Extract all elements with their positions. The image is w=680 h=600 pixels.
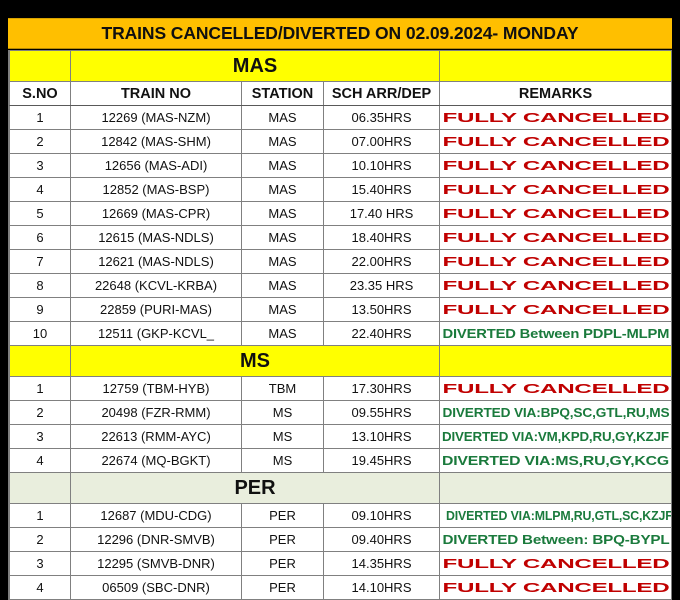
remarks-text: FULLY CANCELLED [442,158,669,173]
cell-remarks: FULLY CANCELLED [440,377,672,401]
cell-sch-arr-dep: 17.40 HRS [324,202,440,226]
cell-serial-number: 3 [10,154,71,178]
cell-remarks: FULLY CANCELLED [440,130,672,154]
cell-sch-arr-dep: 14.10HRS [324,576,440,600]
cell-remarks: FULLY CANCELLED [440,298,672,322]
cell-station: TBM [242,377,324,401]
cell-station: MS [242,401,324,425]
cell-remarks: FULLY CANCELLED [440,202,672,226]
cell-station: MAS [242,298,324,322]
cell-train-no: 20498 (FZR-RMM) [71,401,242,425]
cell-station: MS [242,449,324,473]
page-title: TRAINS CANCELLED/DIVERTED ON 02.09.2024-… [102,23,579,44]
cell-remarks: FULLY CANCELLED [440,226,672,250]
cell-train-no: 22674 (MQ-BGKT) [71,449,242,473]
section-header-row: PER [10,473,672,504]
table-row: 412852 (MAS-BSP)MAS15.40HRSFULLY CANCELL… [10,178,672,202]
cell-station: MAS [242,178,324,202]
cell-sch-arr-dep: 09.55HRS [324,401,440,425]
cell-train-no: 12269 (MAS-NZM) [71,106,242,130]
cell-serial-number: 4 [10,178,71,202]
cell-serial-number: 6 [10,226,71,250]
section-band-spacer [440,346,672,377]
cell-serial-number: 4 [10,576,71,600]
table-row: 822648 (KCVL-KRBA)MAS23.35 HRSFULLY CANC… [10,274,672,298]
column-header-row: S.NOTRAIN NOSTATIONSCH ARR/DEPREMARKS [10,82,672,106]
column-header-station: STATION [242,82,324,106]
remarks-text: FULLY CANCELLED [442,110,669,125]
cell-serial-number: 2 [10,401,71,425]
remarks-text: DIVERTED VIA:BPQ,SC,GTL,RU,MS [442,405,669,420]
cell-serial-number: 9 [10,298,71,322]
cell-train-no: 12295 (SMVB-DNR) [71,552,242,576]
cell-station: PER [242,504,324,528]
cell-station: PER [242,528,324,552]
cell-serial-number: 7 [10,250,71,274]
table-row: 112687 (MDU-CDG)PER09.10HRSDIVERTED VIA:… [10,504,672,528]
remarks-text: DIVERTED Between: BPQ-BYPL [442,532,669,547]
cell-remarks: FULLY CANCELLED [440,106,672,130]
section-band-spacer [440,51,672,82]
cell-sch-arr-dep: 15.40HRS [324,178,440,202]
remarks-text: FULLY CANCELLED [442,381,669,396]
cell-serial-number: 2 [10,528,71,552]
table-row: 312656 (MAS-ADI)MAS10.10HRSFULLY CANCELL… [10,154,672,178]
cell-remarks: FULLY CANCELLED [440,576,672,600]
remarks-text: FULLY CANCELLED [442,182,669,197]
table-row: 922859 (PURI-MAS)MAS13.50HRSFULLY CANCEL… [10,298,672,322]
table-row: 112759 (TBM-HYB)TBM17.30HRSFULLY CANCELL… [10,377,672,401]
remarks-text: FULLY CANCELLED [442,206,669,221]
cell-train-no: 06509 (SBC-DNR) [71,576,242,600]
cell-remarks: FULLY CANCELLED [440,274,672,298]
cell-train-no: 22859 (PURI-MAS) [71,298,242,322]
cell-sch-arr-dep: 09.40HRS [324,528,440,552]
cell-sch-arr-dep: 17.30HRS [324,377,440,401]
remarks-text: FULLY CANCELLED [442,580,669,595]
cell-remarks: DIVERTED VIA:VM,KPD,RU,GY,KZJF [440,425,672,449]
cell-sch-arr-dep: 23.35 HRS [324,274,440,298]
remarks-text: FULLY CANCELLED [442,230,669,245]
table-row: 212296 (DNR-SMVB)PER09.40HRSDIVERTED Bet… [10,528,672,552]
section-header-row: MS [10,346,672,377]
cell-train-no: 12296 (DNR-SMVB) [71,528,242,552]
table-row: 512669 (MAS-CPR)MAS17.40 HRSFULLY CANCEL… [10,202,672,226]
cell-train-no: 12621 (MAS-NDLS) [71,250,242,274]
table-row: 422674 (MQ-BGKT)MS19.45HRSDIVERTED VIA:M… [10,449,672,473]
cell-sch-arr-dep: 13.10HRS [324,425,440,449]
cell-train-no: 12842 (MAS-SHM) [71,130,242,154]
cell-sch-arr-dep: 14.35HRS [324,552,440,576]
cell-serial-number: 1 [10,377,71,401]
cell-sch-arr-dep: 18.40HRS [324,226,440,250]
cell-sch-arr-dep: 06.35HRS [324,106,440,130]
table-row: 220498 (FZR-RMM)MS09.55HRSDIVERTED VIA:B… [10,401,672,425]
cell-remarks: FULLY CANCELLED [440,250,672,274]
cell-train-no: 12759 (TBM-HYB) [71,377,242,401]
column-header-sch-arr-dep: SCH ARR/DEP [324,82,440,106]
cell-train-no: 12656 (MAS-ADI) [71,154,242,178]
cell-train-no: 22648 (KCVL-KRBA) [71,274,242,298]
section-name-ms: MS [71,346,440,377]
cell-station: MAS [242,130,324,154]
cell-station: MAS [242,106,324,130]
notice-title-bar: TRAINS CANCELLED/DIVERTED ON 02.09.2024-… [8,18,672,49]
table-row: 1012511 (GKP-KCVL_MAS22.40HRSDIVERTED Be… [10,322,672,346]
cell-serial-number: 1 [10,504,71,528]
cell-train-no: 12511 (GKP-KCVL_ [71,322,242,346]
table-row: 322613 (RMM-AYC)MS13.10HRSDIVERTED VIA:V… [10,425,672,449]
cell-station: MS [242,425,324,449]
cell-train-no: 12687 (MDU-CDG) [71,504,242,528]
remarks-text: FULLY CANCELLED [442,556,669,571]
cell-train-no: 12852 (MAS-BSP) [71,178,242,202]
screenshot-root: TRAINS CANCELLED/DIVERTED ON 02.09.2024-… [0,0,680,575]
column-header-train-no: TRAIN NO [71,82,242,106]
cell-sch-arr-dep: 10.10HRS [324,154,440,178]
cancellation-table-container: MASS.NOTRAIN NOSTATIONSCH ARR/DEPREMARKS… [8,50,672,600]
cell-station: MAS [242,154,324,178]
table-row: 612615 (MAS-NDLS)MAS18.40HRSFULLY CANCEL… [10,226,672,250]
section-band-spacer [440,473,672,504]
column-header-remarks: REMARKS [440,82,672,106]
cell-remarks: DIVERTED Between: BPQ-BYPL [440,528,672,552]
table-row: 712621 (MAS-NDLS)MAS22.00HRSFULLY CANCEL… [10,250,672,274]
cell-train-no: 12669 (MAS-CPR) [71,202,242,226]
cell-serial-number: 10 [10,322,71,346]
cell-remarks: FULLY CANCELLED [440,178,672,202]
cell-serial-number: 3 [10,425,71,449]
section-name-mas: MAS [71,51,440,82]
cell-station: MAS [242,274,324,298]
section-band-spacer [10,473,71,504]
trains-table: MASS.NOTRAIN NOSTATIONSCH ARR/DEPREMARKS… [9,50,672,600]
cell-remarks: FULLY CANCELLED [440,154,672,178]
section-name-per: PER [71,473,440,504]
cell-remarks: DIVERTED Between PDPL-MLPM [440,322,672,346]
cell-serial-number: 3 [10,552,71,576]
cell-serial-number: 8 [10,274,71,298]
cell-remarks: DIVERTED VIA:MLPM,RU,GTL,SC,KZJF [440,504,672,528]
cell-station: MAS [242,226,324,250]
remarks-text: DIVERTED VIA:MS,RU,GY,KCG [442,453,669,468]
section-band-spacer [10,346,71,377]
cell-remarks: DIVERTED VIA:BPQ,SC,GTL,RU,MS [440,401,672,425]
cell-serial-number: 5 [10,202,71,226]
cell-train-no: 12615 (MAS-NDLS) [71,226,242,250]
cell-serial-number: 1 [10,106,71,130]
table-row: 406509 (SBC-DNR)PER14.10HRSFULLY CANCELL… [10,576,672,600]
cell-train-no: 22613 (RMM-AYC) [71,425,242,449]
cell-station: MAS [242,202,324,226]
cell-serial-number: 2 [10,130,71,154]
remarks-text: FULLY CANCELLED [442,254,669,269]
section-band-spacer [10,51,71,82]
cell-station: PER [242,576,324,600]
cell-station: MAS [242,250,324,274]
table-row: 212842 (MAS-SHM)MAS07.00HRSFULLY CANCELL… [10,130,672,154]
section-header-row: MAS [10,51,672,82]
remarks-text: FULLY CANCELLED [442,302,669,317]
remarks-text: DIVERTED VIA:VM,KPD,RU,GY,KZJF [442,429,669,444]
remarks-text: DIVERTED VIA:MLPM,RU,GTL,SC,KZJF [446,508,672,523]
cell-station: PER [242,552,324,576]
cell-sch-arr-dep: 07.00HRS [324,130,440,154]
cell-sch-arr-dep: 22.00HRS [324,250,440,274]
cell-remarks: DIVERTED VIA:MS,RU,GY,KCG [440,449,672,473]
cell-sch-arr-dep: 09.10HRS [324,504,440,528]
column-header-sno: S.NO [10,82,71,106]
cell-station: MAS [242,322,324,346]
remarks-text: FULLY CANCELLED [442,278,669,293]
remarks-text: DIVERTED Between PDPL-MLPM [442,326,669,341]
table-row: 112269 (MAS-NZM)MAS06.35HRSFULLY CANCELL… [10,106,672,130]
cell-sch-arr-dep: 13.50HRS [324,298,440,322]
cell-serial-number: 4 [10,449,71,473]
cell-remarks: FULLY CANCELLED [440,552,672,576]
table-row: 312295 (SMVB-DNR)PER14.35HRSFULLY CANCEL… [10,552,672,576]
cell-sch-arr-dep: 19.45HRS [324,449,440,473]
remarks-text: FULLY CANCELLED [442,134,669,149]
cell-sch-arr-dep: 22.40HRS [324,322,440,346]
